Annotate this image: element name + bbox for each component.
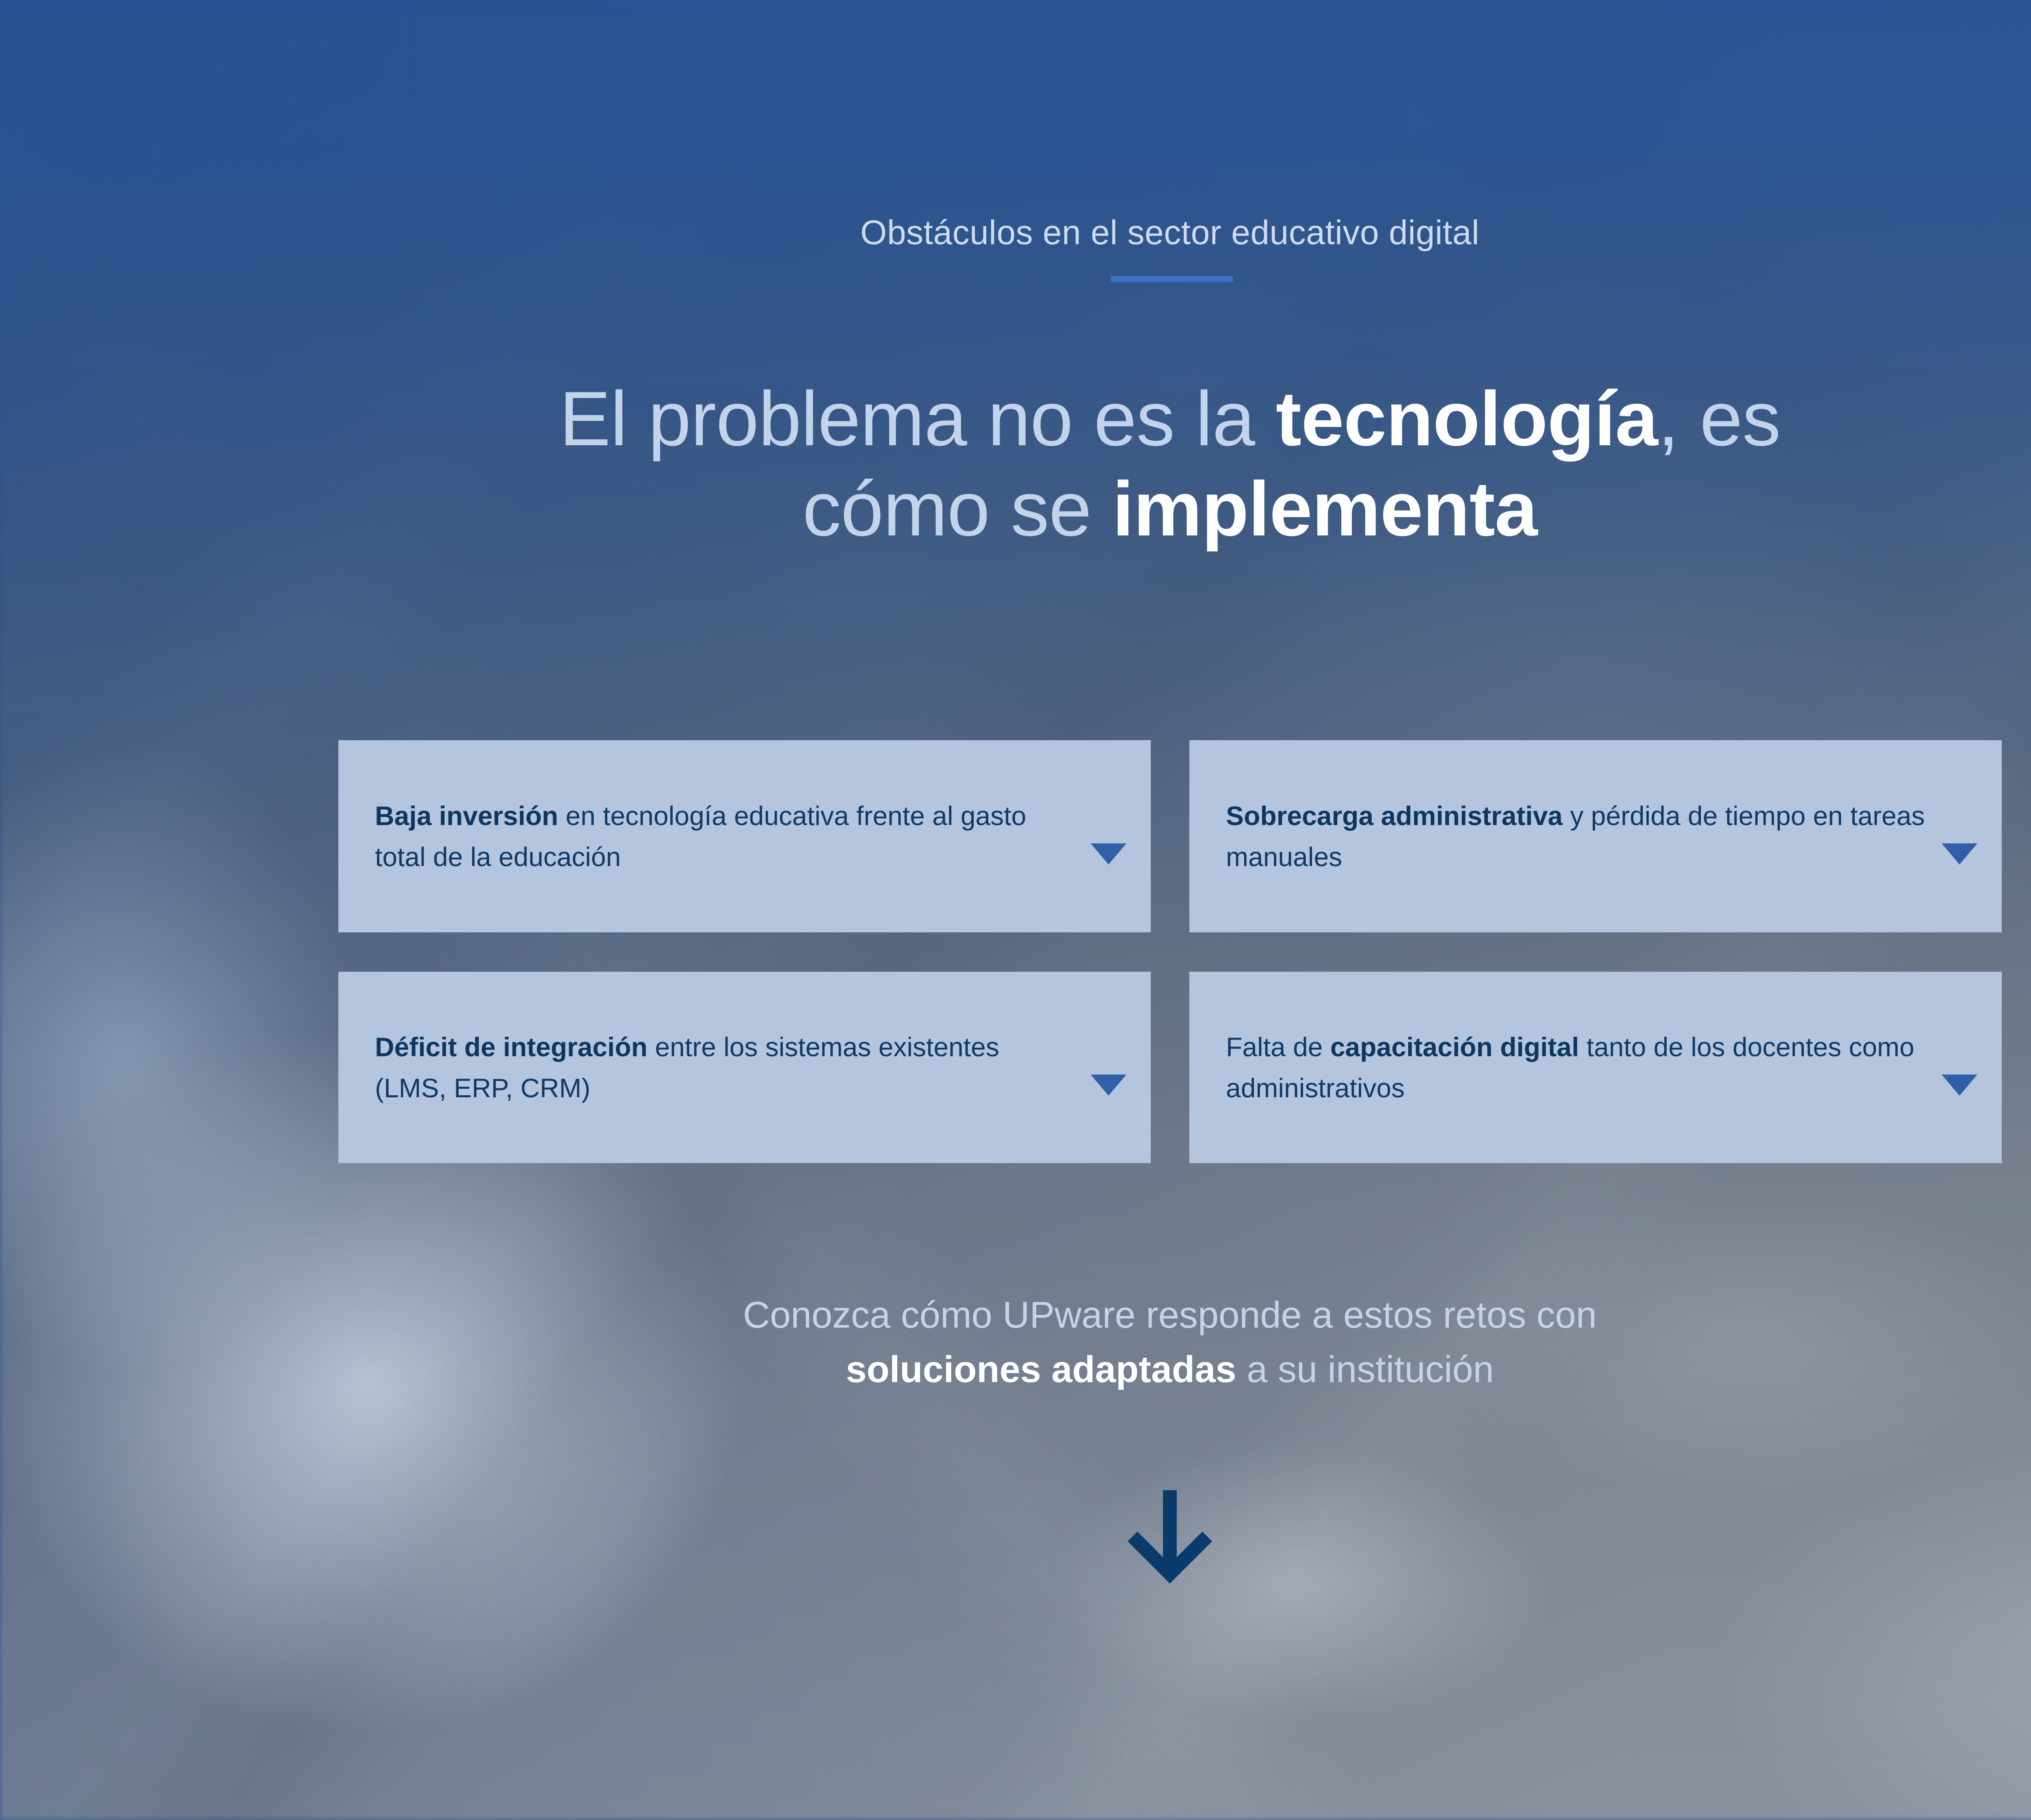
obstacle-cards-grid: Baja inversión en tecnología educativa f… (338, 740, 2002, 1163)
headline-line1-suffix: , es (1658, 376, 1780, 462)
cta-line2-suffix: a su institución (1236, 1349, 1494, 1390)
obstacle-card-strong: Sobrecarga administrativa (1226, 801, 1563, 831)
cta-line2-strong: soluciones adaptadas (846, 1349, 1236, 1390)
obstacle-card-baja-inversion[interactable]: Baja inversión en tecnología educativa f… (338, 740, 1151, 932)
headline-line2-strong: implementa (1113, 466, 1537, 552)
chevron-down-icon[interactable] (1942, 843, 1977, 864)
obstacle-card-strong: Baja inversión (375, 801, 558, 831)
headline-line2-prefix: cómo se (803, 466, 1113, 552)
section-eyebrow: Obstáculos en el sector educativo digita… (0, 213, 2031, 252)
hero-section: Obstáculos en el sector educativo digita… (0, 0, 2031, 1820)
obstacle-card-text: Baja inversión en tecnología educativa f… (375, 795, 1091, 877)
obstacle-card-text: Sobrecarga administrativa y pérdida de t… (1226, 795, 1942, 877)
obstacle-card-strong: capacitación digital (1330, 1032, 1579, 1062)
headline-line1-strong: tecnología (1276, 376, 1658, 462)
obstacle-card-sobrecarga-administrativa[interactable]: Sobrecarga administrativa y pérdida de t… (1189, 740, 2002, 932)
hero-content: Obstáculos en el sector educativo digita… (0, 0, 2031, 1820)
obstacle-card-capacitacion-digital[interactable]: Falta de capacitación digital tanto de l… (1189, 972, 2002, 1163)
chevron-down-icon[interactable] (1091, 1075, 1126, 1096)
arrow-down-icon[interactable] (1125, 1487, 1215, 1588)
cta-line1: Conozca cómo UPware responde a estos ret… (743, 1294, 1597, 1336)
chevron-down-icon[interactable] (1091, 843, 1126, 864)
obstacle-card-text: Falta de capacitación digital tanto de l… (1226, 1027, 1942, 1108)
obstacle-card-text: Déficit de integración entre los sistema… (375, 1027, 1091, 1108)
page-title: El problema no es la tecnología, es cómo… (309, 374, 2031, 555)
obstacle-card-deficit-integracion[interactable]: Déficit de integración entre los sistema… (338, 972, 1151, 1163)
headline-line1-prefix: El problema no es la (559, 376, 1276, 462)
cta-text: Conozca cómo UPware responde a estos ret… (447, 1288, 1893, 1397)
accent-underline-bar (1111, 276, 1233, 282)
obstacle-card-strong: Déficit de integración (375, 1032, 647, 1062)
obstacle-card-lead: Falta de (1226, 1032, 1330, 1062)
chevron-down-icon[interactable] (1942, 1075, 1977, 1096)
